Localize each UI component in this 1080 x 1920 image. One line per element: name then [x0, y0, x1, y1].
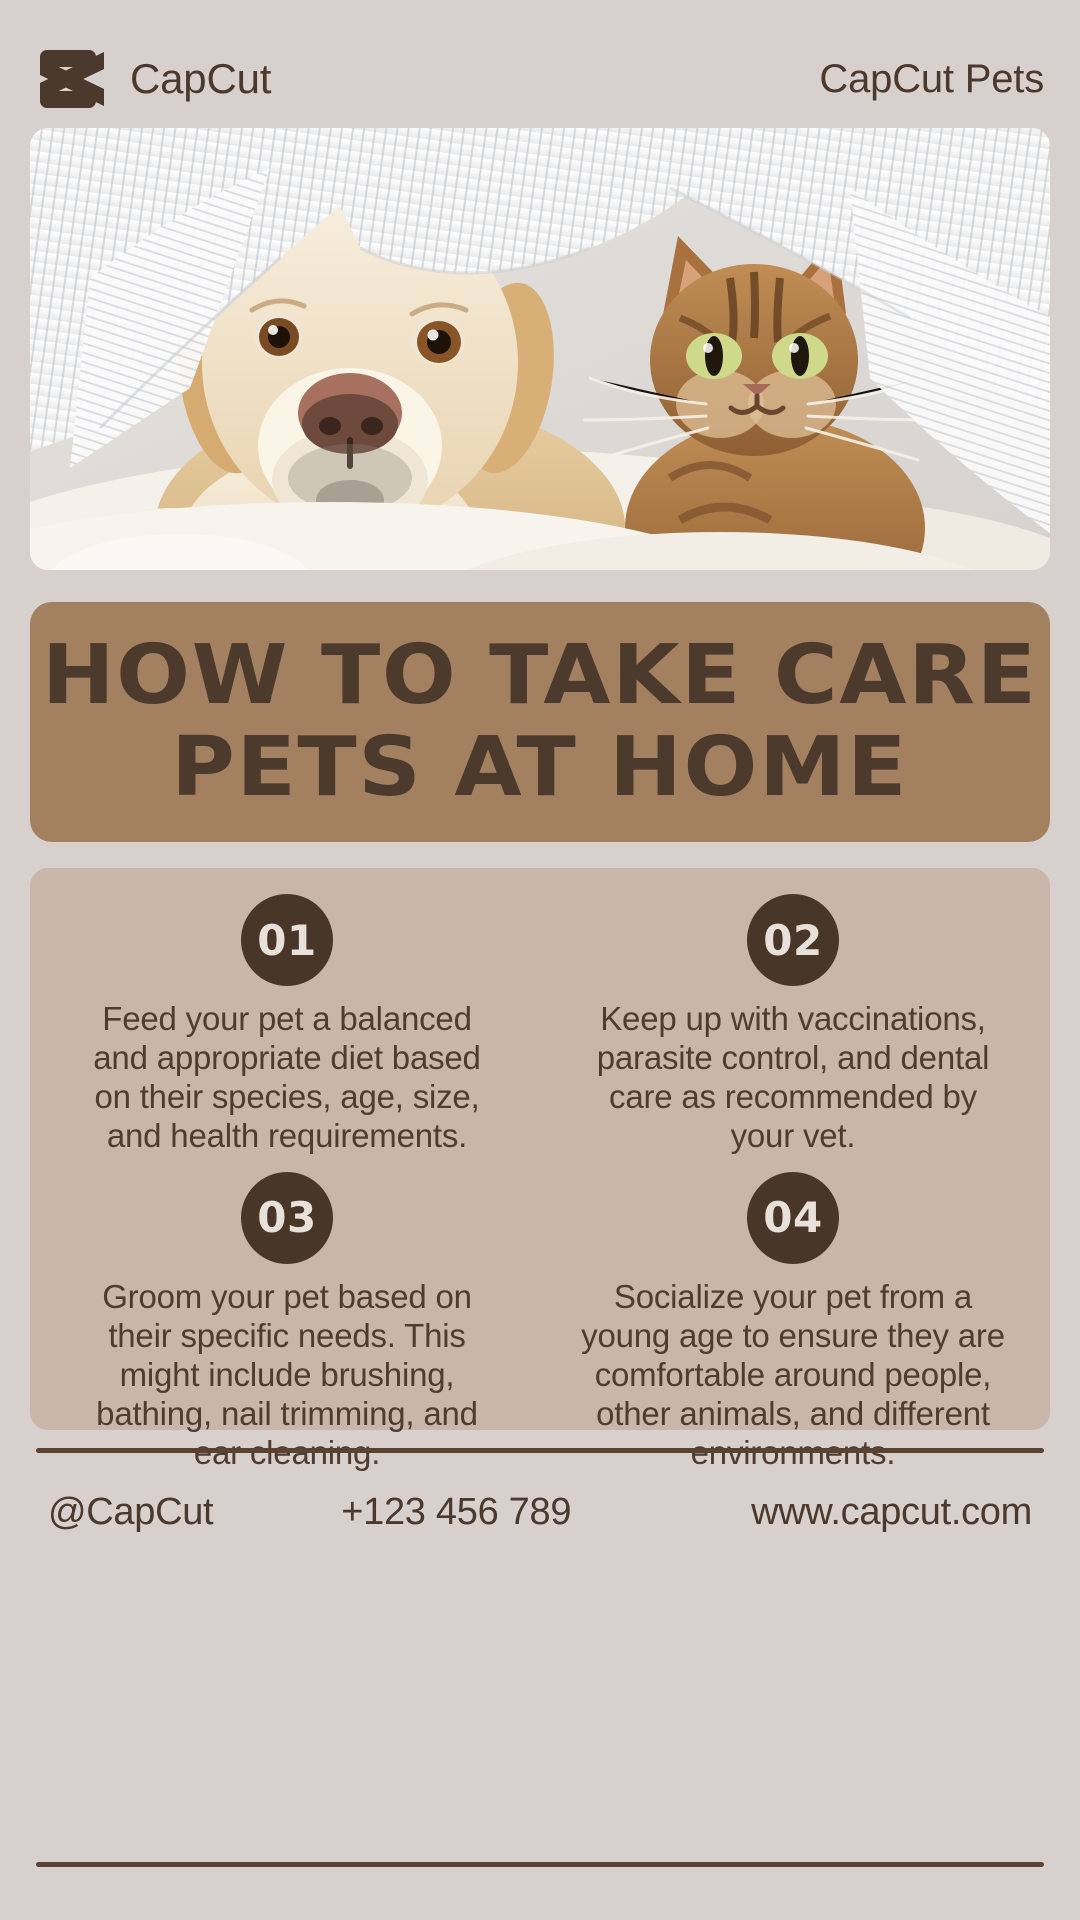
tip-number-badge: 03 [241, 1172, 333, 1264]
footer-handle[interactable]: @CapCut [48, 1491, 213, 1534]
tip-number-badge: 04 [747, 1172, 839, 1264]
tip-text: Keep up with vaccinations, parasite cont… [578, 1000, 1008, 1156]
capcut-logo-icon [36, 48, 112, 110]
tip-item-01: 01 Feed your pet a balanced and appropri… [48, 894, 526, 1156]
title-banner: HOW TO TAKE CARE PETS AT HOME [30, 602, 1050, 842]
brand: CapCut [36, 48, 271, 110]
pets-photo-illustration [30, 128, 1050, 570]
tip-text: Feed your pet a balanced and appropriate… [72, 1000, 502, 1156]
footer-website[interactable]: www.capcut.com [751, 1491, 1032, 1534]
footer-bottom-divider [36, 1862, 1044, 1867]
footer: @CapCut +123 456 789 www.capcut.com [36, 1448, 1044, 1578]
footer-phone[interactable]: +123 456 789 [341, 1491, 571, 1534]
tip-item-04: 04 Socialize your pet from a young age t… [554, 1172, 1032, 1473]
page-title-line-2: PETS AT HOME [172, 728, 909, 808]
footer-contact-row: @CapCut +123 456 789 www.capcut.com [36, 1453, 1044, 1571]
tip-number-badge: 01 [241, 894, 333, 986]
brand-name: CapCut [130, 58, 271, 100]
tip-item-02: 02 Keep up with vaccinations, parasite c… [554, 894, 1032, 1156]
infographic-page: CapCut CapCut Pets [0, 0, 1080, 1920]
tips-panel: 01 Feed your pet a balanced and appropri… [30, 868, 1050, 1430]
header-right-label: CapCut Pets [819, 59, 1044, 99]
header: CapCut CapCut Pets [36, 48, 1044, 110]
tip-text: Groom your pet based on their specific n… [72, 1278, 502, 1473]
tip-number-badge: 02 [747, 894, 839, 986]
page-title-line-1: HOW TO TAKE CARE [42, 636, 1038, 716]
hero-image [30, 128, 1050, 570]
tip-item-03: 03 Groom your pet based on their specifi… [48, 1172, 526, 1473]
tip-text: Socialize your pet from a young age to e… [578, 1278, 1008, 1473]
